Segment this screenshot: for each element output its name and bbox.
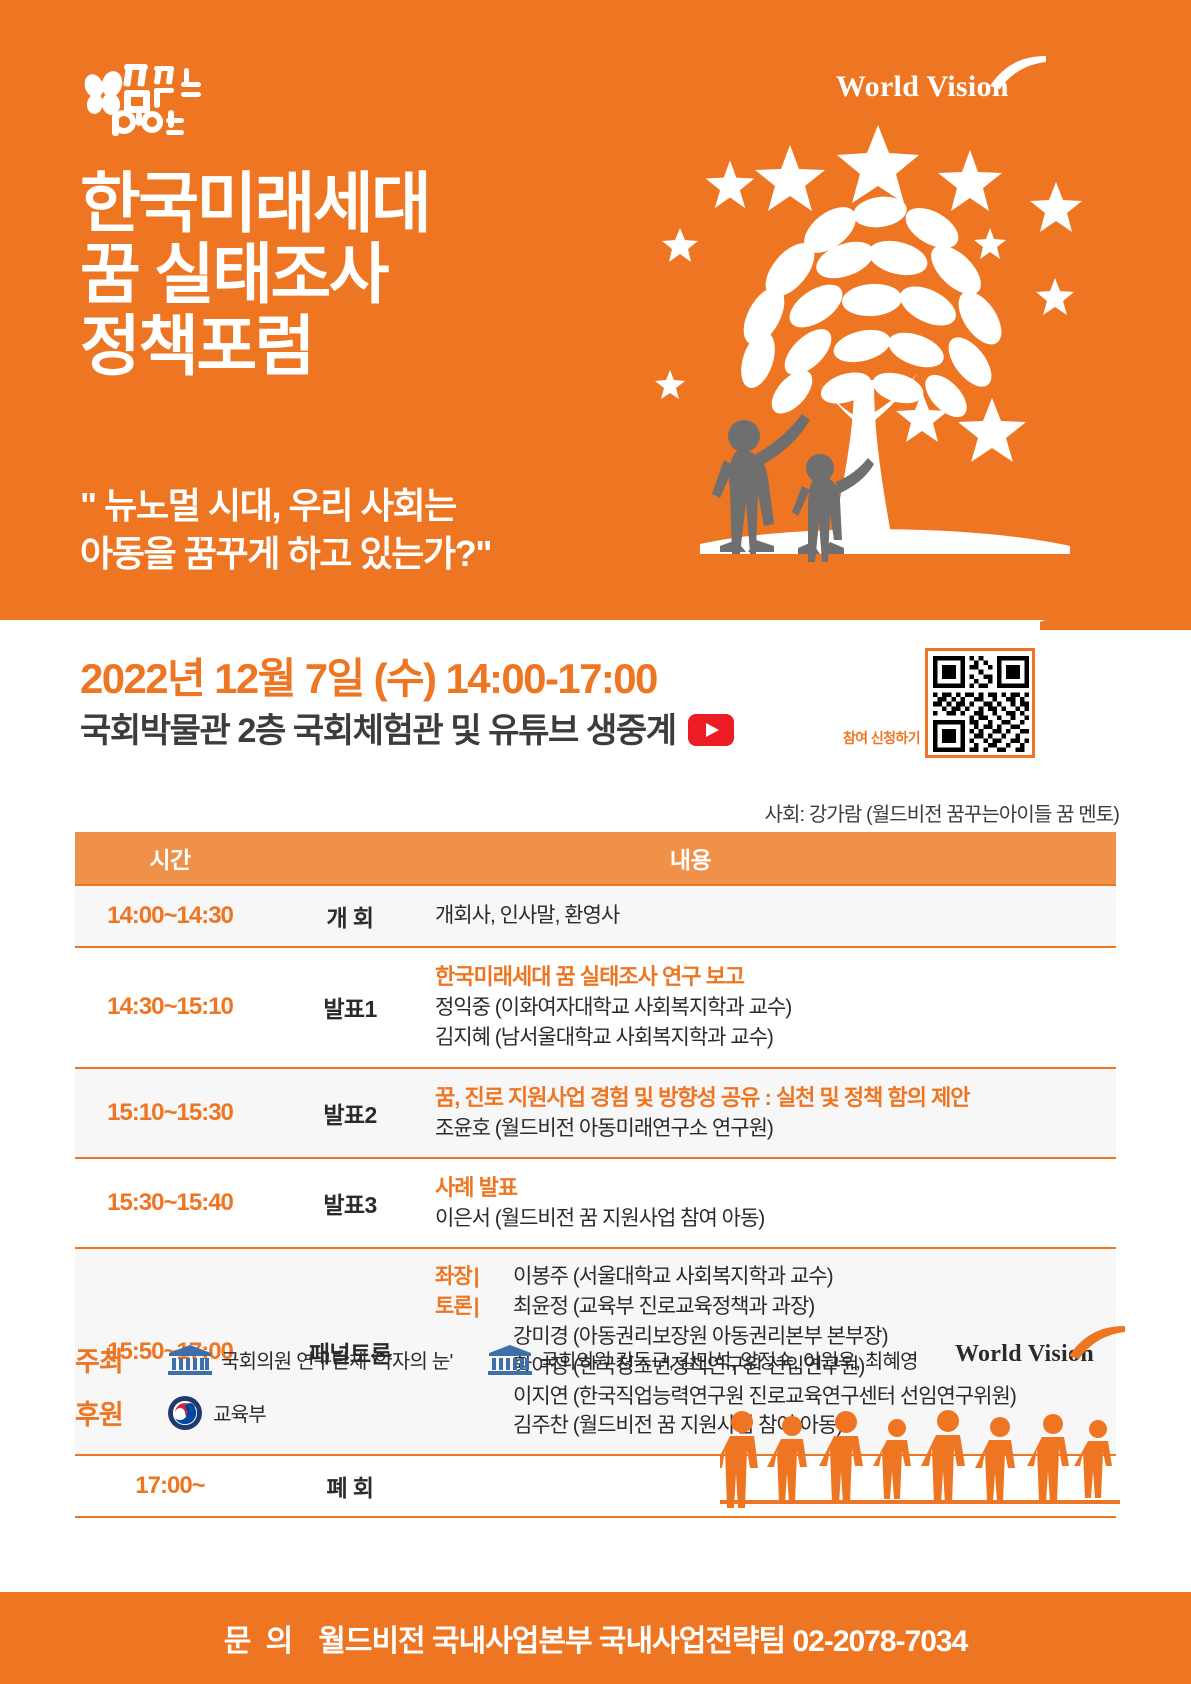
row-time: 15:30~15:40 <box>75 1158 265 1248</box>
row-time: 14:30~15:10 <box>75 947 265 1068</box>
title-line-2: 꿈 실태조사 <box>80 239 640 310</box>
national-assembly-icon <box>167 1345 213 1375</box>
row-time: 15:10~15:30 <box>75 1068 265 1158</box>
table-row: 14:00~14:30 개 회 개회사, 인사말, 환영사 <box>75 885 1116 947</box>
world-vision-swoosh-icon <box>1067 1326 1127 1360</box>
host-label: 주최 <box>75 1340 167 1379</box>
poster-title: 한국미래세대 꿈 실태조사 정책포럼 <box>80 168 640 382</box>
row-heading: 꿈, 진로 지원사업 경험 및 방향성 공유 : 실천 및 정책 함의 제안 <box>435 1082 1116 1114</box>
row-kind: 발표2 <box>265 1068 435 1158</box>
host-group-1: 국회의원 연구단체 '약자의 눈' <box>221 1345 453 1374</box>
inquiry-text: 월드비전 국내사업본부 국내사업전략팀 02-2078-7034 <box>318 1616 967 1660</box>
row-content: 사례 발표 이은서 (월드비전 꿈 지원사업 참여 아동) <box>435 1158 1116 1248</box>
panel-discussant: 토론| 최윤정 (교육부 진로교육정책과 과장) <box>435 1292 1116 1322</box>
panel-chair: 좌장| 이봉주 (서울대학교 사회복지학과 교수) <box>435 1262 1116 1292</box>
table-row: 15:10~15:30 발표2 꿈, 진로 지원사업 경험 및 방향성 공유 :… <box>75 1068 1116 1158</box>
panel-chair-name: 이봉주 (서울대학교 사회복지학과 교수) <box>513 1262 833 1292</box>
support-label: 후원 <box>75 1393 167 1432</box>
panel-discuss-label: 토론| <box>435 1292 513 1322</box>
youtube-play-icon[interactable] <box>688 714 734 746</box>
quote-line-2: 아동을 꿈꾸게 하고 있는가?" <box>80 530 640 578</box>
row-speaker: 정익중 (이화여자대학교 사회복지학과 교수) <box>435 993 1116 1023</box>
row-heading: 한국미래세대 꿈 실태조사 연구 보고 <box>435 961 1116 993</box>
event-venue: 국회박물관 2층 국회체험관 및 유튜브 생중계 <box>80 703 734 752</box>
mc-line: 사회: 강가람 (월드비전 꿈꾸는아이들 꿈 멘토) <box>765 798 1119 827</box>
children-silhouettes-illustration <box>720 1400 1120 1510</box>
qr-caption: 참여 신청하기 <box>840 728 920 748</box>
table-row: 15:30~15:40 발표3 사례 발표 이은서 (월드비전 꿈 지원사업 참… <box>75 1158 1116 1248</box>
header-content: 내용 <box>265 832 1116 885</box>
table-row: 14:30~15:10 발표1 한국미래세대 꿈 실태조사 연구 보고 정익중 … <box>75 947 1116 1068</box>
inquiry-label: 문 의 <box>224 1616 297 1660</box>
row-content: 꿈, 진로 지원사업 경험 및 방향성 공유 : 실천 및 정책 함의 제안 조… <box>435 1068 1116 1158</box>
row-kind: 발표3 <box>265 1158 435 1248</box>
row-speaker: 조윤호 (월드비전 아동미래연구소 연구원) <box>435 1114 1116 1144</box>
footer-contact-bar: 문 의 월드비전 국내사업본부 국내사업전략팀 02-2078-7034 <box>0 1592 1191 1684</box>
panel-discussant-name: 최윤정 (교육부 진로교육정책과 과장) <box>513 1292 814 1322</box>
row-speaker: 김지혜 (남서울대학교 사회복지학과 교수) <box>435 1023 1116 1053</box>
world-vision-logo-hero: World Vision <box>836 72 1036 120</box>
row-kind: 발표1 <box>265 947 435 1068</box>
row-kind: 폐 회 <box>265 1455 435 1517</box>
event-date: 2022년 12월 7일 (수) 14:00-17:00 <box>80 645 657 706</box>
poster-root: World Vision <box>0 0 1191 1684</box>
support-org: 교육부 <box>213 1398 266 1427</box>
row-content: 개회사, 인사말, 환영사 <box>435 885 1116 947</box>
row-speaker: 이은서 (월드비전 꿈 지원사업 참여 아동) <box>435 1204 1116 1234</box>
title-line-3: 정책포럼 <box>80 311 640 382</box>
korea-government-emblem-icon <box>167 1395 203 1431</box>
world-vision-swoosh-icon <box>988 56 1048 90</box>
tree-illustration <box>640 120 1110 590</box>
poster-subtitle-quote: " 뉴노멀 시대, 우리 사회는 아동을 꿈꾸게 하고 있는가?" <box>80 482 640 577</box>
world-vision-logo-footer: World Vision <box>955 1342 1115 1376</box>
event-venue-text: 국회박물관 2층 국회체험관 및 유튜브 생중계 <box>80 703 676 752</box>
panel-chair-label: 좌장| <box>435 1262 513 1292</box>
row-time: 14:00~14:30 <box>75 885 265 947</box>
registration-qr-code[interactable] <box>925 648 1035 758</box>
dreaming-children-logo <box>78 52 208 142</box>
header-time: 시간 <box>75 832 265 885</box>
title-line-1: 한국미래세대 <box>80 168 640 239</box>
row-content: 한국미래세대 꿈 실태조사 연구 보고 정익중 (이화여자대학교 사회복지학과 … <box>435 947 1116 1068</box>
row-kind: 개 회 <box>265 885 435 947</box>
world-vision-wordmark: World Vision <box>836 70 1009 103</box>
row-time: 17:00~ <box>75 1455 265 1517</box>
row-plain-text: 개회사, 인사말, 환영사 <box>435 901 1116 931</box>
row-heading: 사례 발표 <box>435 1172 1116 1204</box>
quote-line-1: " 뉴노멀 시대, 우리 사회는 <box>80 482 640 530</box>
host-row: 주최 국회의원 연구단체 '약자의 눈' <box>75 1340 1125 1379</box>
national-assembly-icon <box>487 1345 533 1375</box>
schedule-header-row: 시간 내용 <box>75 832 1116 885</box>
host-group-2: 국회의원 강득구, 김민석, 양정숙, 이원욱, 최혜영 <box>541 1345 918 1374</box>
